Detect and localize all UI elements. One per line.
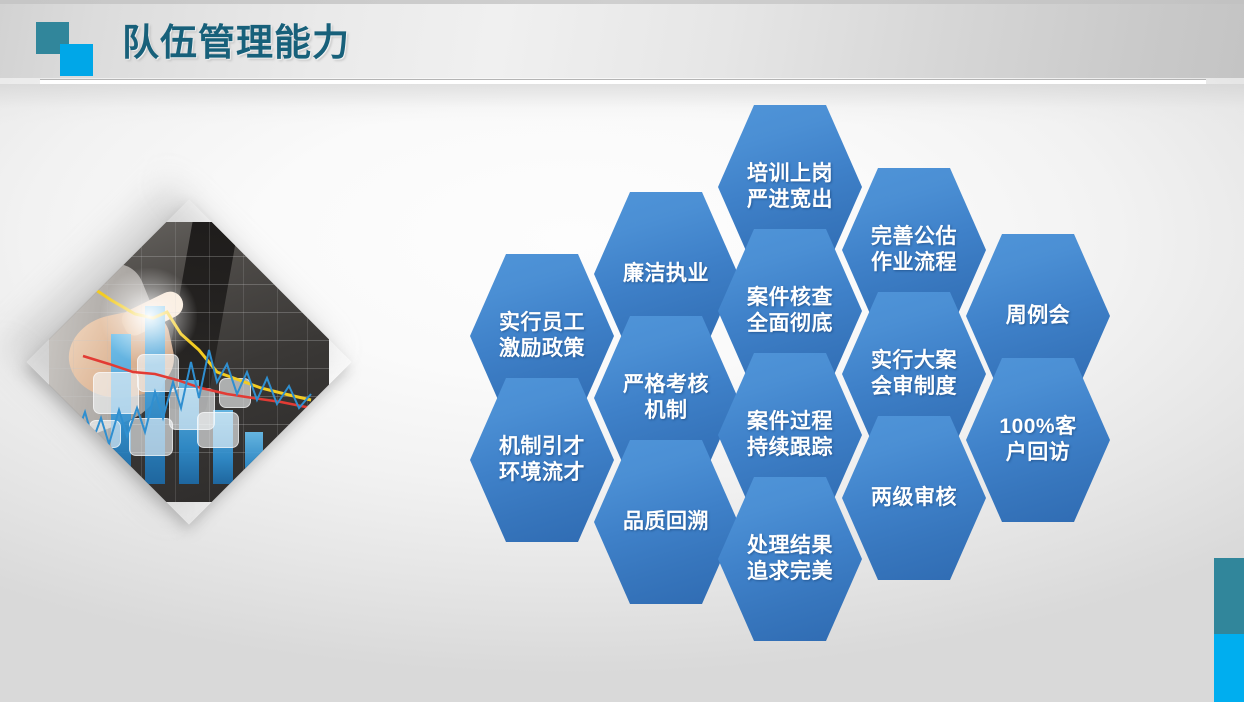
hexagon-label: 廉洁执业: [617, 261, 715, 287]
hexagon-label: 案件过程 持续跟踪: [741, 409, 839, 461]
hexagon-label: 案件核查 全面彻底: [741, 285, 839, 337]
hexagon-label: 实行大案 会审制度: [865, 348, 963, 400]
hexagon-quality-traceback[interactable]: 品质回溯: [594, 440, 738, 604]
hexagon-two-level-audit[interactable]: 两级审核: [842, 416, 986, 580]
hexagon-label: 完善公估 作业流程: [865, 224, 963, 276]
honeycomb-diagram: 实行员工 激励政策 机制引才 环境流才 廉洁执业 严格考核 机制 品质回溯 培训…: [0, 0, 1244, 702]
hexagon-label: 严格考核 机制: [617, 372, 715, 424]
hexagon-label: 实行员工 激励政策: [493, 310, 591, 362]
hexagon-label: 机制引才 环境流才: [493, 434, 591, 486]
hexagon-label: 培训上岗 严进宽出: [741, 161, 839, 213]
accent-block-teal: [1214, 558, 1244, 634]
hexagon-label: 处理结果 追求完美: [741, 533, 839, 585]
hexagon-result-perfection[interactable]: 处理结果 追求完美: [718, 477, 862, 641]
accent-block-blue: [1214, 634, 1244, 702]
hexagon-label: 周例会: [1000, 303, 1077, 329]
hexagon-customer-revisit[interactable]: 100%客 户回访: [966, 358, 1110, 522]
hexagon-label: 两级审核: [865, 485, 963, 511]
hexagon-label: 品质回溯: [617, 509, 715, 535]
slide-canvas: 队伍管理能力: [0, 0, 1244, 702]
hexagon-talent-mechanism[interactable]: 机制引才 环境流才: [470, 378, 614, 542]
hexagon-label: 100%客 户回访: [993, 414, 1082, 466]
